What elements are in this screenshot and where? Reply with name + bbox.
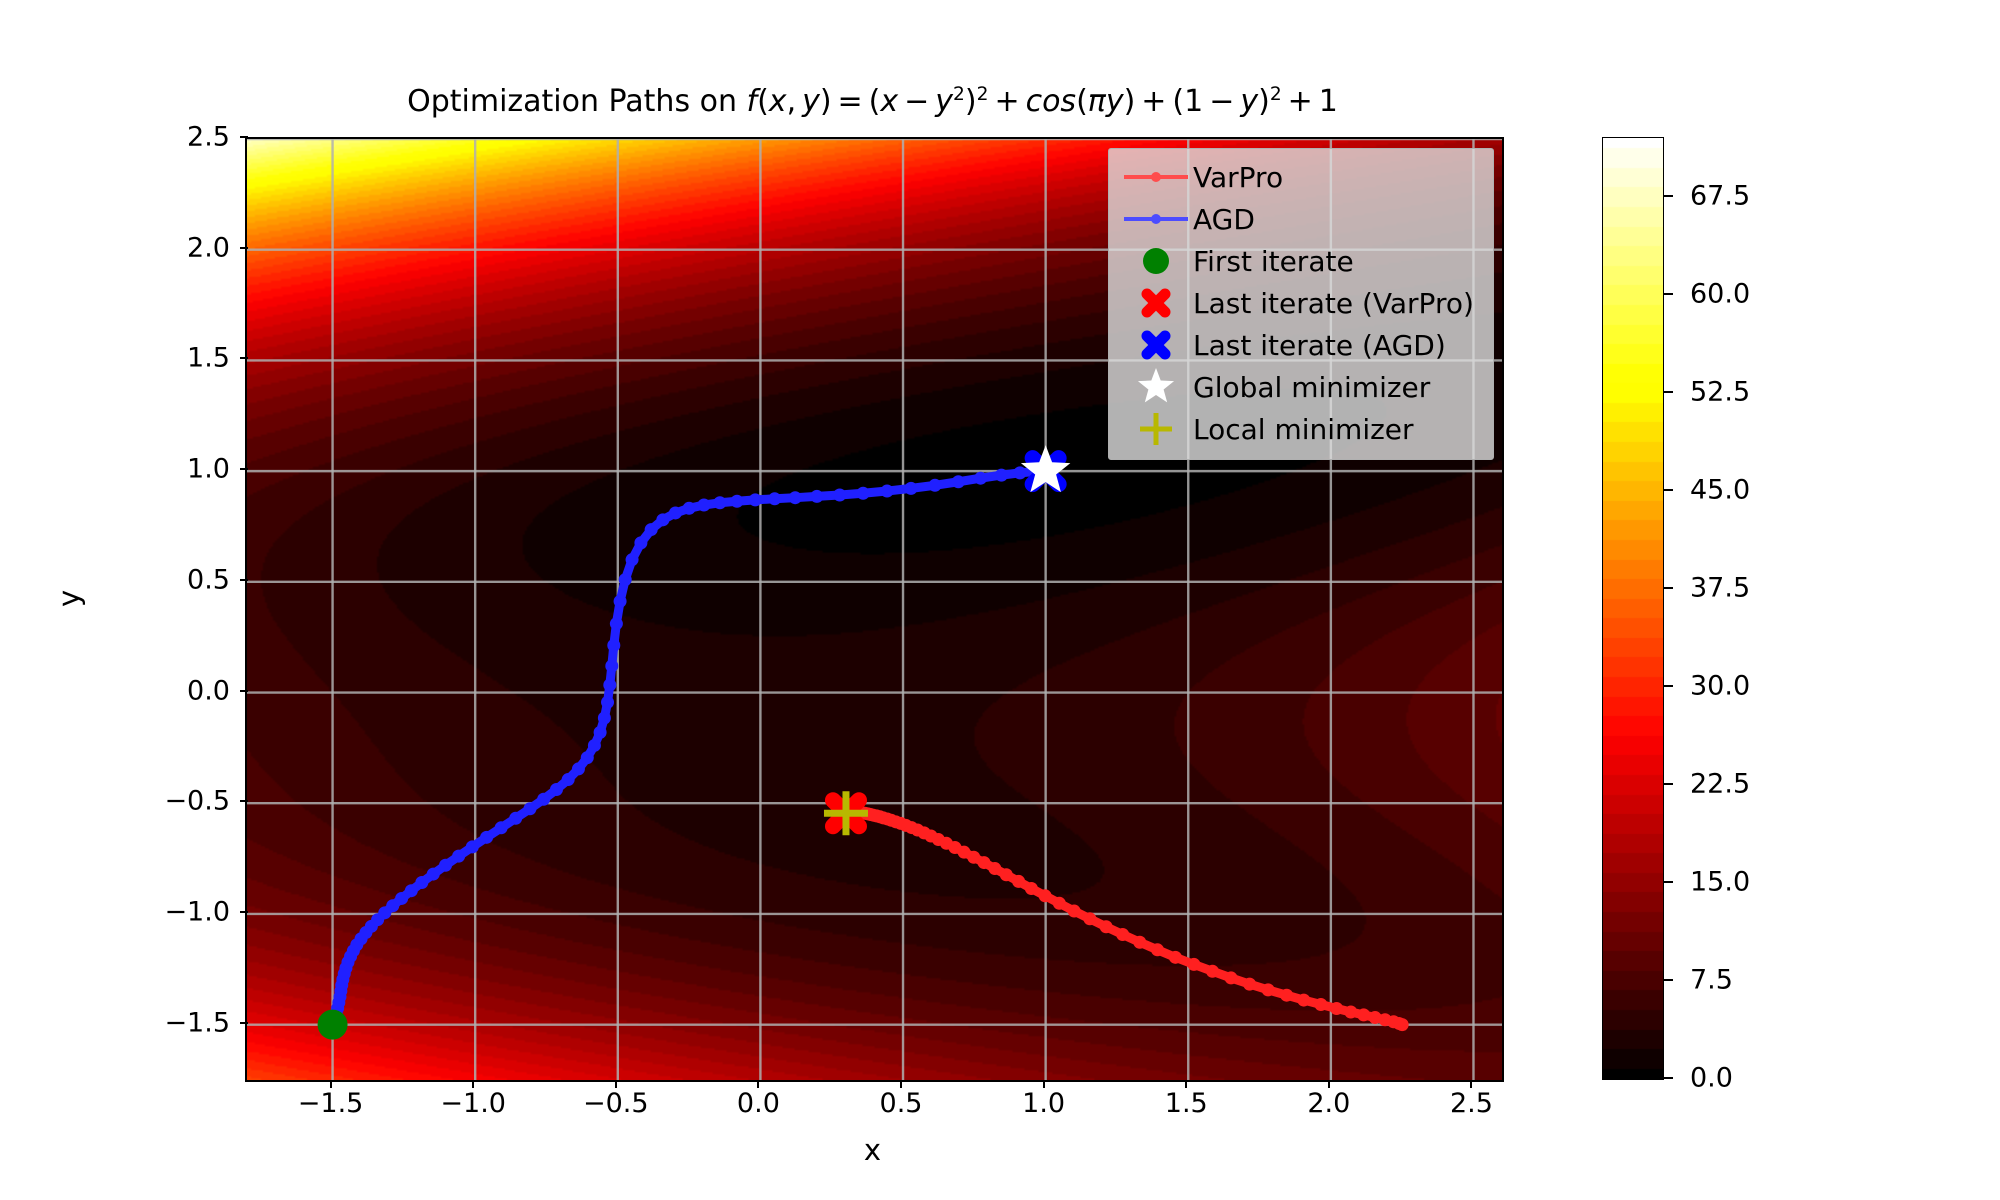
y-tick-mark xyxy=(240,247,248,249)
legend-plus-icon xyxy=(1135,408,1177,450)
legend-circle-icon xyxy=(1136,241,1176,281)
legend-item[interactable]: Last iterate (AGD) xyxy=(1119,324,1483,366)
legend: VarProAGDFirst iterateLast iterate (VarP… xyxy=(1108,148,1494,460)
x-axis-title: x xyxy=(245,1133,1500,1167)
colorbar-tick-mark xyxy=(1664,685,1673,687)
colorbar-tick-mark xyxy=(1664,1077,1673,1079)
y-tick-mark xyxy=(240,579,248,581)
legend-label: Last iterate (AGD) xyxy=(1193,329,1446,362)
colorbar-tick-label: 7.5 xyxy=(1690,964,1733,995)
title-prefix: Optimization Paths on xyxy=(407,84,746,119)
x-tick-label: −0.5 xyxy=(583,1088,649,1119)
legend-label: AGD xyxy=(1193,203,1255,236)
x-tick-label: 2.0 xyxy=(1307,1088,1350,1119)
legend-item[interactable]: VarPro xyxy=(1119,156,1483,198)
legend-star-icon xyxy=(1135,366,1177,408)
legend-symbol xyxy=(1119,282,1193,324)
colorbar-tick-label: 45.0 xyxy=(1690,474,1750,505)
colorbar-tick-mark xyxy=(1664,881,1673,883)
y-tick-label: −1.5 xyxy=(164,1007,230,1038)
colorbar-tick-mark xyxy=(1664,783,1673,785)
y-tick-mark xyxy=(240,911,248,913)
y-tick-mark xyxy=(240,468,248,470)
legend-line-icon xyxy=(1121,164,1191,190)
x-tick-label: 0.5 xyxy=(880,1088,923,1119)
y-tick-label: 1.5 xyxy=(187,343,230,374)
y-tick-label: 0.0 xyxy=(187,675,230,706)
legend-item[interactable]: Last iterate (VarPro) xyxy=(1119,282,1483,324)
colorbar-tick-label: 30.0 xyxy=(1690,670,1750,701)
x-tick-label: 1.5 xyxy=(1165,1088,1208,1119)
x-tick-mark xyxy=(1328,1080,1330,1088)
y-tick-mark xyxy=(240,1022,248,1024)
y-tick-mark xyxy=(240,800,248,802)
y-tick-mark xyxy=(240,690,248,692)
legend-symbol xyxy=(1119,198,1193,240)
y-axis-ticks: −1.5−1.0−0.50.00.51.01.52.02.5 xyxy=(130,137,230,1078)
legend-label: Last iterate (VarPro) xyxy=(1193,287,1474,320)
colorbar-tick-label: 22.5 xyxy=(1690,768,1750,799)
legend-label: Local minimizer xyxy=(1193,413,1414,446)
legend-symbol xyxy=(1119,240,1193,282)
x-tick-label: 1.0 xyxy=(1022,1088,1065,1119)
x-tick-mark xyxy=(615,1080,617,1088)
legend-symbol xyxy=(1119,324,1193,366)
x-tick-mark xyxy=(472,1080,474,1088)
colorbar-tick-mark xyxy=(1664,195,1673,197)
legend-item[interactable]: AGD xyxy=(1119,198,1483,240)
y-tick-mark xyxy=(240,357,248,359)
colorbar xyxy=(1602,137,1664,1080)
legend-symbol xyxy=(1119,366,1193,408)
legend-x-icon xyxy=(1136,325,1176,365)
colorbar-tick-label: 60.0 xyxy=(1690,278,1750,309)
x-tick-label: 0.0 xyxy=(737,1088,780,1119)
colorbar-tick-label: 52.5 xyxy=(1690,376,1750,407)
colorbar-tick-label: 37.5 xyxy=(1690,572,1750,603)
y-tick-label: 2.0 xyxy=(187,232,230,263)
colorbar-tick-mark xyxy=(1664,587,1673,589)
x-tick-mark xyxy=(330,1080,332,1088)
x-tick-mark xyxy=(1043,1080,1045,1088)
legend-label: VarPro xyxy=(1193,161,1283,194)
colorbar-tick-mark xyxy=(1664,391,1673,393)
x-axis-ticks: −1.5−1.0−0.50.00.51.01.52.02.5 xyxy=(245,1088,1500,1128)
x-tick-mark xyxy=(900,1080,902,1088)
colorbar-tick-label: 15.0 xyxy=(1690,866,1750,897)
y-tick-label: 0.5 xyxy=(187,564,230,595)
colorbar-tick-mark xyxy=(1664,979,1673,981)
colorbar-tick-label: 0.0 xyxy=(1690,1063,1733,1094)
colorbar-tick-mark xyxy=(1664,489,1673,491)
y-tick-mark xyxy=(240,136,248,138)
legend-item[interactable]: First iterate xyxy=(1119,240,1483,282)
legend-symbol xyxy=(1119,156,1193,198)
x-tick-mark xyxy=(757,1080,759,1088)
colorbar-tick-label: 67.5 xyxy=(1690,180,1750,211)
x-tick-mark xyxy=(1470,1080,1472,1088)
y-tick-label: −0.5 xyxy=(164,786,230,817)
colorbar-ticks: 0.07.515.022.530.037.545.052.560.067.5 xyxy=(1664,137,1824,1078)
legend-symbol xyxy=(1119,408,1193,450)
x-tick-label: −1.0 xyxy=(440,1088,506,1119)
colorbar-tick-mark xyxy=(1664,293,1673,295)
y-tick-label: −1.0 xyxy=(164,896,230,927)
y-axis-title: y xyxy=(52,590,86,607)
figure-canvas: Optimization Paths on f(x, y) = (x − y2)… xyxy=(0,0,2000,1200)
x-tick-label: −1.5 xyxy=(298,1088,364,1119)
page-title: Optimization Paths on f(x, y) = (x − y2)… xyxy=(245,84,1500,119)
legend-item[interactable]: Global minimizer xyxy=(1119,366,1483,408)
legend-label: Global minimizer xyxy=(1193,371,1430,404)
legend-x-icon xyxy=(1136,283,1176,323)
y-tick-label: 2.5 xyxy=(187,122,230,153)
legend-item[interactable]: Local minimizer xyxy=(1119,408,1483,450)
x-tick-mark xyxy=(1185,1080,1187,1088)
legend-line-icon xyxy=(1121,206,1191,232)
legend-label: First iterate xyxy=(1193,245,1354,278)
x-tick-label: 2.5 xyxy=(1450,1088,1493,1119)
y-tick-label: 1.0 xyxy=(187,454,230,485)
